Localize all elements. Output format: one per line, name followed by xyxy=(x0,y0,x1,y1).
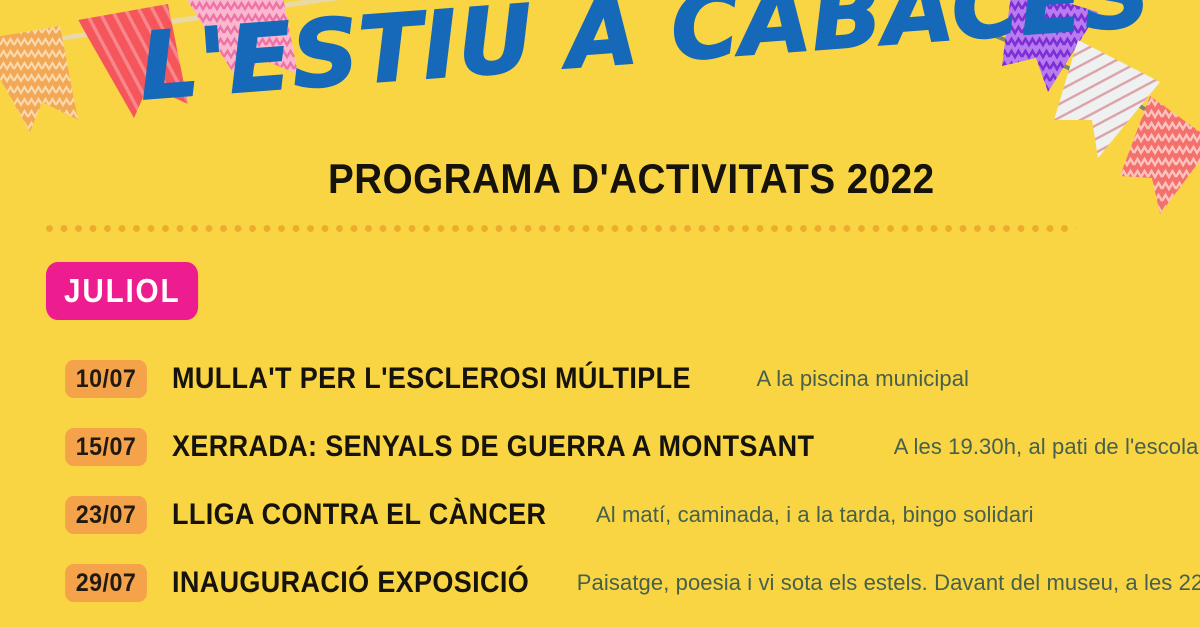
list-item: 29/07 INAUGURACIÓ EXPOSICIÓ Paisatge, po… xyxy=(0,549,1200,617)
event-description: A les 19.30h, al pati de l'escola xyxy=(894,434,1199,460)
event-title: INAUGURACIÓ EXPOSICIÓ xyxy=(172,566,529,600)
event-description: A la piscina municipal xyxy=(757,366,970,392)
event-date-badge: 29/07 xyxy=(65,564,147,602)
list-item xyxy=(0,617,1200,627)
event-title: XERRADA: SENYALS DE GUERRA A MONTSANT xyxy=(172,430,814,464)
poster-canvas: L'ESTIU A CABACÉS PROGRAMA D'ACTIVITATS … xyxy=(0,0,1200,627)
page-subtitle: PROGRAMA D'ACTIVITATS 2022 xyxy=(328,155,935,203)
event-description: Paisatge, poesia i vi sota els estels. D… xyxy=(577,570,1200,596)
title-block: L'ESTIU A CABACÉS xyxy=(0,14,1200,164)
dotted-divider xyxy=(46,225,1076,233)
event-list: 10/07 MULLA'T PER L'ESCLEROSI MÚLTIPLE A… xyxy=(0,345,1200,627)
event-date-badge: 10/07 xyxy=(65,360,147,398)
page-title: L'ESTIU A CABACÉS xyxy=(137,0,1041,114)
event-date-badge: 23/07 xyxy=(65,496,147,534)
event-title: MULLA'T PER L'ESCLEROSI MÚLTIPLE xyxy=(172,362,691,396)
list-item: 15/07 XERRADA: SENYALS DE GUERRA A MONTS… xyxy=(0,413,1200,481)
event-date-badge: 15/07 xyxy=(65,428,147,466)
month-badge-juliol: JULIOL xyxy=(46,262,198,320)
list-item: 10/07 MULLA'T PER L'ESCLEROSI MÚLTIPLE A… xyxy=(0,345,1200,413)
list-item: 23/07 LLIGA CONTRA EL CÀNCER Al matí, ca… xyxy=(0,481,1200,549)
event-description: Al matí, caminada, i a la tarda, bingo s… xyxy=(596,502,1034,528)
event-title: LLIGA CONTRA EL CÀNCER xyxy=(172,498,546,532)
